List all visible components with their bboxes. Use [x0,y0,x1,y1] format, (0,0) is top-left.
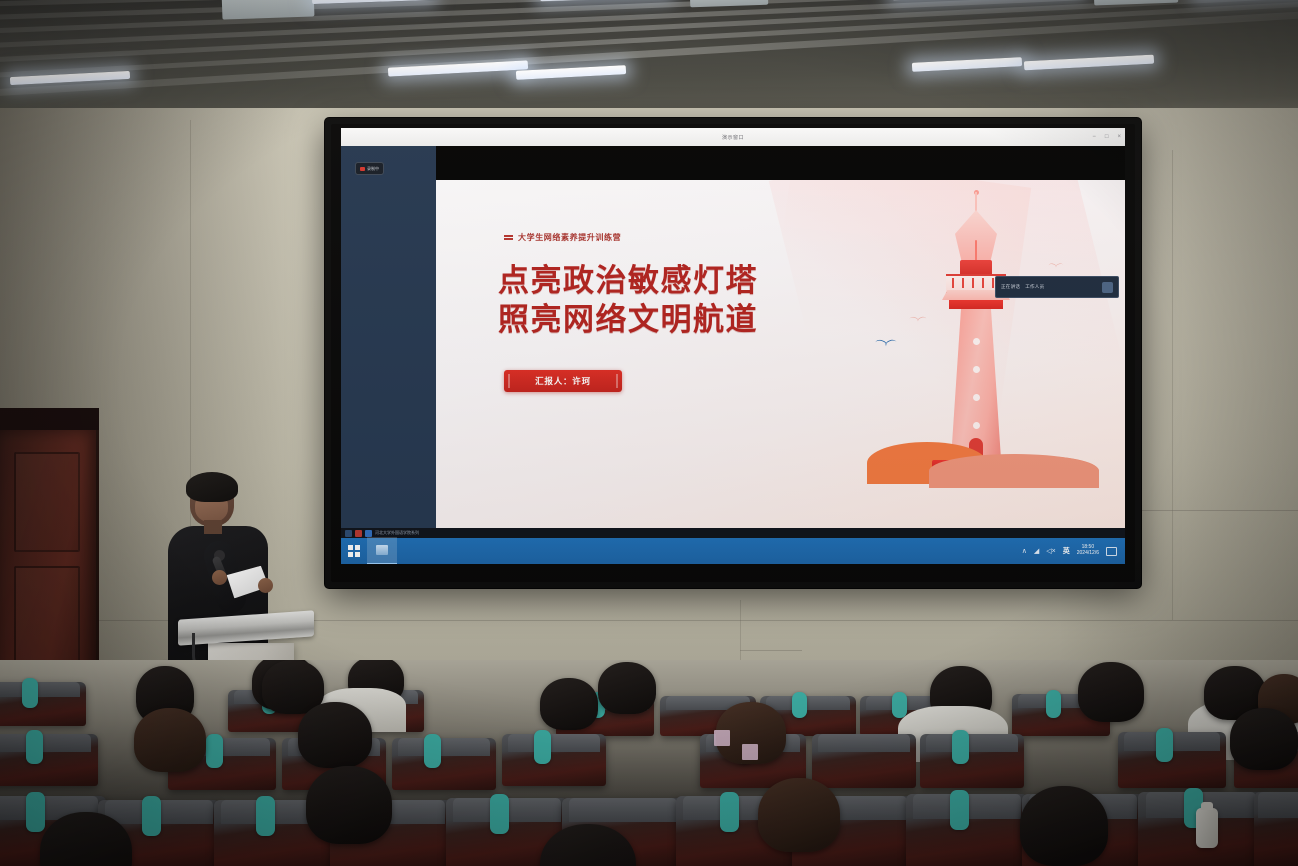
presenter-badge: 汇报人：许珂 [504,370,622,392]
wall-seam [740,650,802,651]
windows-logo-icon [348,545,360,557]
audience-head [1020,786,1108,866]
clock[interactable]: 18:50 2024/12/6 [1077,545,1099,557]
slide-eyebrow-text: 大学生网络素养提升训练营 [518,232,621,243]
seat-accent [1046,690,1061,718]
seat [0,734,98,786]
audience-seating [0,660,1298,866]
slide-title-line-1: 点亮政治敏感灯塔 [498,262,758,301]
window-controls[interactable]: − □ × [1092,128,1121,146]
lighthouse-window [973,394,980,401]
lighthouse-illustration [871,188,1081,488]
window-titlebar[interactable]: 演示窗口 − □ × [341,128,1125,147]
start-button[interactable] [341,538,367,564]
desk-card [742,744,758,760]
audience-head [598,662,656,714]
presentation-icon [376,545,388,555]
ceiling-light [912,57,1022,72]
recording-badge: 录制中 [355,162,384,175]
system-tray[interactable]: ∧ ◢ ◁× 英 18:50 2024/12/6 [1022,538,1125,564]
audience-head [1230,708,1298,770]
audience-head [758,778,840,852]
stage-letterbox-top [436,146,1125,180]
chevron-up-icon[interactable]: ∧ [1022,548,1027,555]
seat-accent [892,692,907,718]
record-icon [360,167,365,171]
lighthouse-window [973,422,980,429]
ceiling [0,0,1298,118]
presenter-hair [186,472,238,502]
network-icon[interactable]: ◢ [1034,548,1039,555]
bird-icon [875,340,897,350]
close-icon[interactable]: × [1117,134,1121,140]
seat-accent [952,730,969,764]
seat-accent [26,792,45,832]
seat-accent [256,796,275,836]
seat-accent [792,692,807,718]
seat-accent [1156,728,1173,762]
lighthouse-band [949,300,1003,309]
audience-head [298,702,372,768]
seat-accent [22,678,38,708]
seat-accent [720,792,739,832]
presentation-app: 录制中 大学生网络素养提升训练营 [341,146,1125,564]
slide-eyebrow: 大学生网络素养提升训练营 [504,232,621,243]
door-panel [14,452,80,552]
taskbar-app-powerpoint[interactable] [367,537,397,564]
bird-icon [909,317,927,325]
pen-nib-icon [955,210,997,262]
seat-accent [490,794,509,834]
desk-card [714,730,730,746]
audience-head [306,766,392,844]
slide-title: 点亮政治敏感灯塔 照亮网络文明航道 [498,262,758,340]
speaking-status: 正在讲话 [1001,284,1020,290]
display-bezel: 演示窗口 − □ × 录制中 [331,124,1135,582]
audience-head [134,708,206,772]
speaking-indicator[interactable]: 正在讲话 工作人员 [995,276,1119,298]
presenter-neck [204,520,222,534]
seat [0,682,86,726]
seat-accent [142,796,161,836]
volume-icon[interactable]: ◁× [1046,548,1055,555]
ceiling-light [516,65,626,80]
speaking-person: 工作人员 [1025,284,1044,290]
avatar [1102,282,1113,293]
clock-date: 2024/12/6 [1077,551,1099,557]
seat-accent [26,730,43,764]
recording-label: 录制中 [367,166,379,172]
seat-accent [424,734,441,768]
seat [812,734,916,788]
seat-accent [206,734,223,768]
background-window-bar[interactable]: 河北大学外国语学院系列 [341,528,1125,538]
background-window-title: 河北大学外国语学院系列 [375,530,419,536]
water-bottle [1196,808,1218,848]
lighthouse-window [973,338,980,345]
ceiling-light [1024,55,1154,71]
ime-indicator[interactable]: 英 [1063,546,1070,556]
windows-taskbar[interactable]: ∧ ◢ ◁× 英 18:50 2024/12/6 [341,538,1125,564]
bird-icon [1048,264,1063,271]
audience-head [1078,662,1144,722]
slide-title-line-2: 照亮网络文明航道 [498,301,758,340]
maximize-icon[interactable]: □ [1105,134,1109,140]
seat-accent [950,790,969,830]
ceiling-panel [690,0,769,7]
presenter-name: 汇报人：许珂 [535,375,591,387]
ceiling-panel [222,0,315,20]
display-panel: 演示窗口 − □ × 录制中 [341,128,1125,564]
minimize-icon[interactable]: − [1092,134,1096,140]
presenter-hand [258,578,273,593]
slide-canvas[interactable]: 大学生网络素养提升训练营 点亮政治敏感灯塔 照亮网络文明航道 汇报人：许珂 [436,180,1125,528]
lighthouse-window [973,366,980,373]
window-icon [345,530,352,537]
presenter-hand [212,570,227,585]
notifications-icon[interactable] [1106,547,1117,556]
app-icon [355,530,362,537]
window-title: 演示窗口 [722,134,744,141]
lecture-hall-scene: 演示窗口 − □ × 录制中 [0,0,1298,866]
audience-head [540,678,598,730]
seat [502,734,606,786]
seat [920,734,1024,788]
hill-shape [929,454,1099,488]
projection-display[interactable]: 演示窗口 − □ × 录制中 [325,118,1141,588]
seat [1254,792,1298,866]
seat [392,738,496,790]
app-icon [365,530,372,537]
seat-accent [534,730,551,764]
hamburger-marks-icon [504,235,513,239]
lighthouse-tower [951,309,1001,459]
